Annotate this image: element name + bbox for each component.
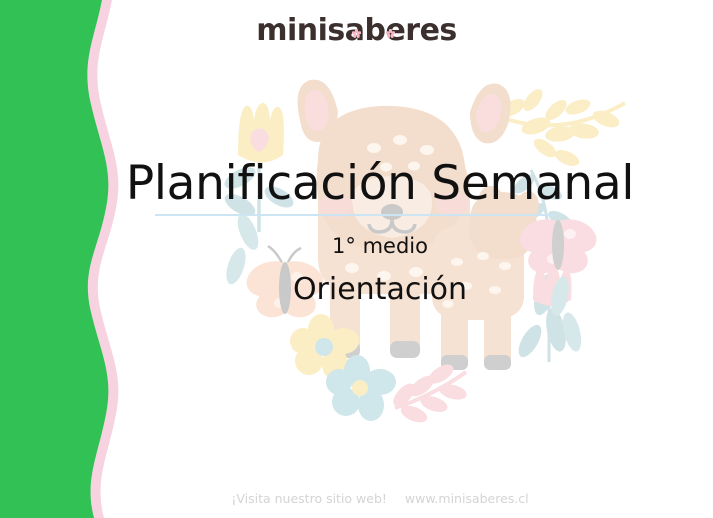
logo-flower-icon-2 [386, 29, 395, 38]
brand-logo: minisaberes [0, 14, 713, 47]
grade-label: 1° medio [110, 234, 650, 258]
footer-invite: ¡Visita nuestro sitio web! [231, 491, 387, 506]
title-divider [155, 214, 556, 216]
pink-branch-icon [389, 361, 468, 426]
footer: ¡Visita nuestro sitio web! www.minisaber… [110, 491, 650, 506]
footer-site-url: www.minisaberes.cl [405, 491, 529, 506]
slide-canvas: minisaberes Planificación Semanal 1° me [0, 0, 713, 518]
subject-label: Orientación [110, 272, 650, 307]
page-title: Planificación Semanal [110, 158, 650, 211]
logo-flower-icon-1 [352, 29, 361, 38]
left-wave-panel [0, 0, 140, 518]
